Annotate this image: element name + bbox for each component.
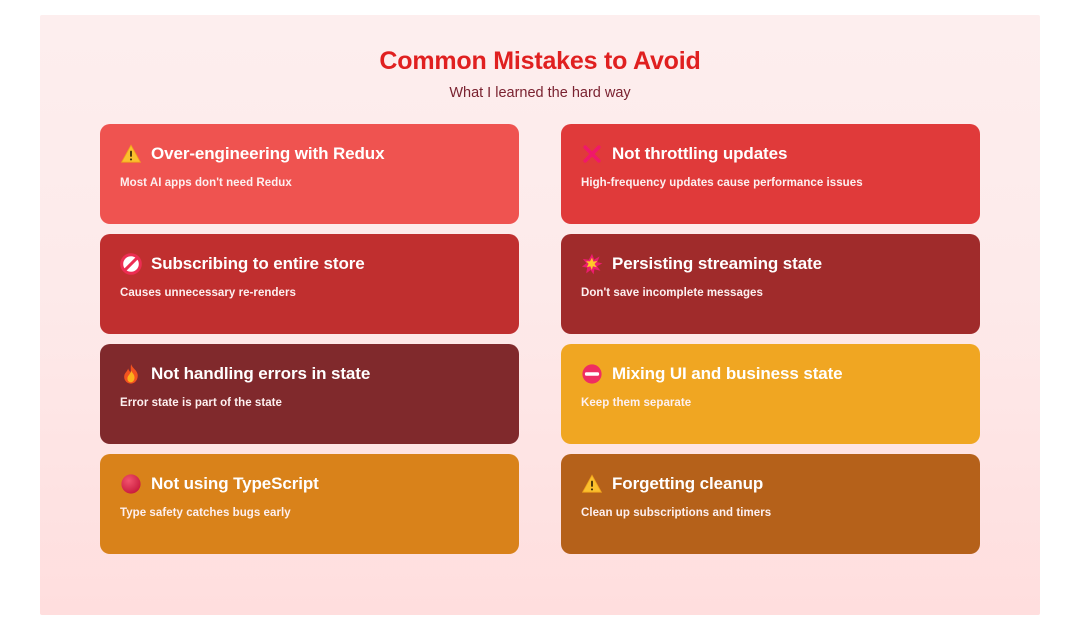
slide-root: Common Mistakes to Avoid What I learned … — [0, 0, 1080, 630]
collision-icon — [581, 253, 603, 275]
warning-triangle-icon — [581, 473, 603, 495]
card-description: Clean up subscriptions and timers — [581, 507, 960, 519]
no-entry-icon — [581, 363, 603, 385]
content-panel: Common Mistakes to Avoid What I learned … — [40, 15, 1040, 615]
card-description: High-frequency updates cause performance… — [581, 177, 960, 189]
mistake-card[interactable]: Subscribing to entire storeCauses unnece… — [100, 234, 519, 334]
card-header: Forgetting cleanup — [581, 471, 960, 497]
mistake-card[interactable]: Forgetting cleanupClean up subscriptions… — [561, 454, 980, 554]
card-title: Not handling errors in state — [151, 364, 370, 384]
mistake-card[interactable]: Not throttling updatesHigh-frequency upd… — [561, 124, 980, 224]
page-title: Common Mistakes to Avoid — [100, 47, 980, 76]
card-header: Subscribing to entire store — [120, 251, 499, 277]
card-title: Mixing UI and business state — [612, 364, 843, 384]
card-description: Type safety catches bugs early — [120, 507, 499, 519]
card-description: Causes unnecessary re-renders — [120, 287, 499, 299]
card-header: Not throttling updates — [581, 141, 960, 167]
card-description: Most AI apps don't need Redux — [120, 177, 499, 189]
card-header: Mixing UI and business state — [581, 361, 960, 387]
card-title: Not using TypeScript — [151, 474, 319, 494]
card-description: Keep them separate — [581, 397, 960, 409]
page-subtitle: What I learned the hard way — [100, 85, 980, 102]
cross-mark-icon — [581, 143, 603, 165]
card-title: Persisting streaming state — [612, 254, 822, 274]
card-description: Don't save incomplete messages — [581, 287, 960, 299]
mistake-card-grid: Over-engineering with ReduxMost AI apps … — [100, 124, 980, 554]
warning-triangle-icon — [120, 143, 142, 165]
mistake-card[interactable]: Not handling errors in stateError state … — [100, 344, 519, 444]
slide-header: Common Mistakes to Avoid What I learned … — [100, 37, 980, 102]
card-title: Forgetting cleanup — [612, 474, 763, 494]
card-description: Error state is part of the state — [120, 397, 499, 409]
card-title: Not throttling updates — [612, 144, 787, 164]
red-circle-icon — [120, 473, 142, 495]
card-header: Not handling errors in state — [120, 361, 499, 387]
fire-icon — [120, 363, 142, 385]
mistake-card[interactable]: Persisting streaming stateDon't save inc… — [561, 234, 980, 334]
mistake-card[interactable]: Not using TypeScriptType safety catches … — [100, 454, 519, 554]
mistake-card[interactable]: Mixing UI and business stateKeep them se… — [561, 344, 980, 444]
card-header: Persisting streaming state — [581, 251, 960, 277]
prohibited-icon — [120, 253, 142, 275]
card-header: Over-engineering with Redux — [120, 141, 499, 167]
card-header: Not using TypeScript — [120, 471, 499, 497]
card-title: Over-engineering with Redux — [151, 144, 384, 164]
card-title: Subscribing to entire store — [151, 254, 365, 274]
mistake-card[interactable]: Over-engineering with ReduxMost AI apps … — [100, 124, 519, 224]
